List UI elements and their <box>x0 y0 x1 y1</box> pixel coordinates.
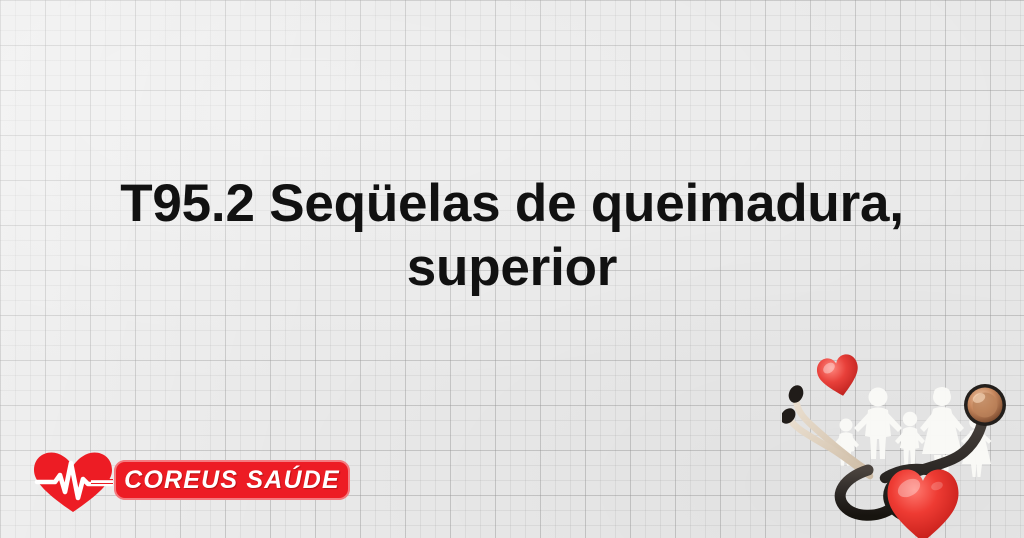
slide-canvas: T95.2 Seqüelas de queimadura, superior C… <box>0 0 1024 538</box>
page-title: T95.2 Seqüelas de queimadura, superior <box>60 172 964 300</box>
large-heart-icon <box>888 470 959 538</box>
brand-badge: COREUS SAÚDE <box>114 460 350 500</box>
medical-illustration <box>782 352 1024 538</box>
small-heart-icon <box>815 352 863 400</box>
stethoscope-chestpiece-icon <box>964 384 1006 426</box>
brand-name-label: COREUS SAÚDE <box>124 466 340 495</box>
brand-logo[interactable]: COREUS SAÚDE <box>30 448 355 516</box>
heart-pulse-icon <box>33 451 113 513</box>
